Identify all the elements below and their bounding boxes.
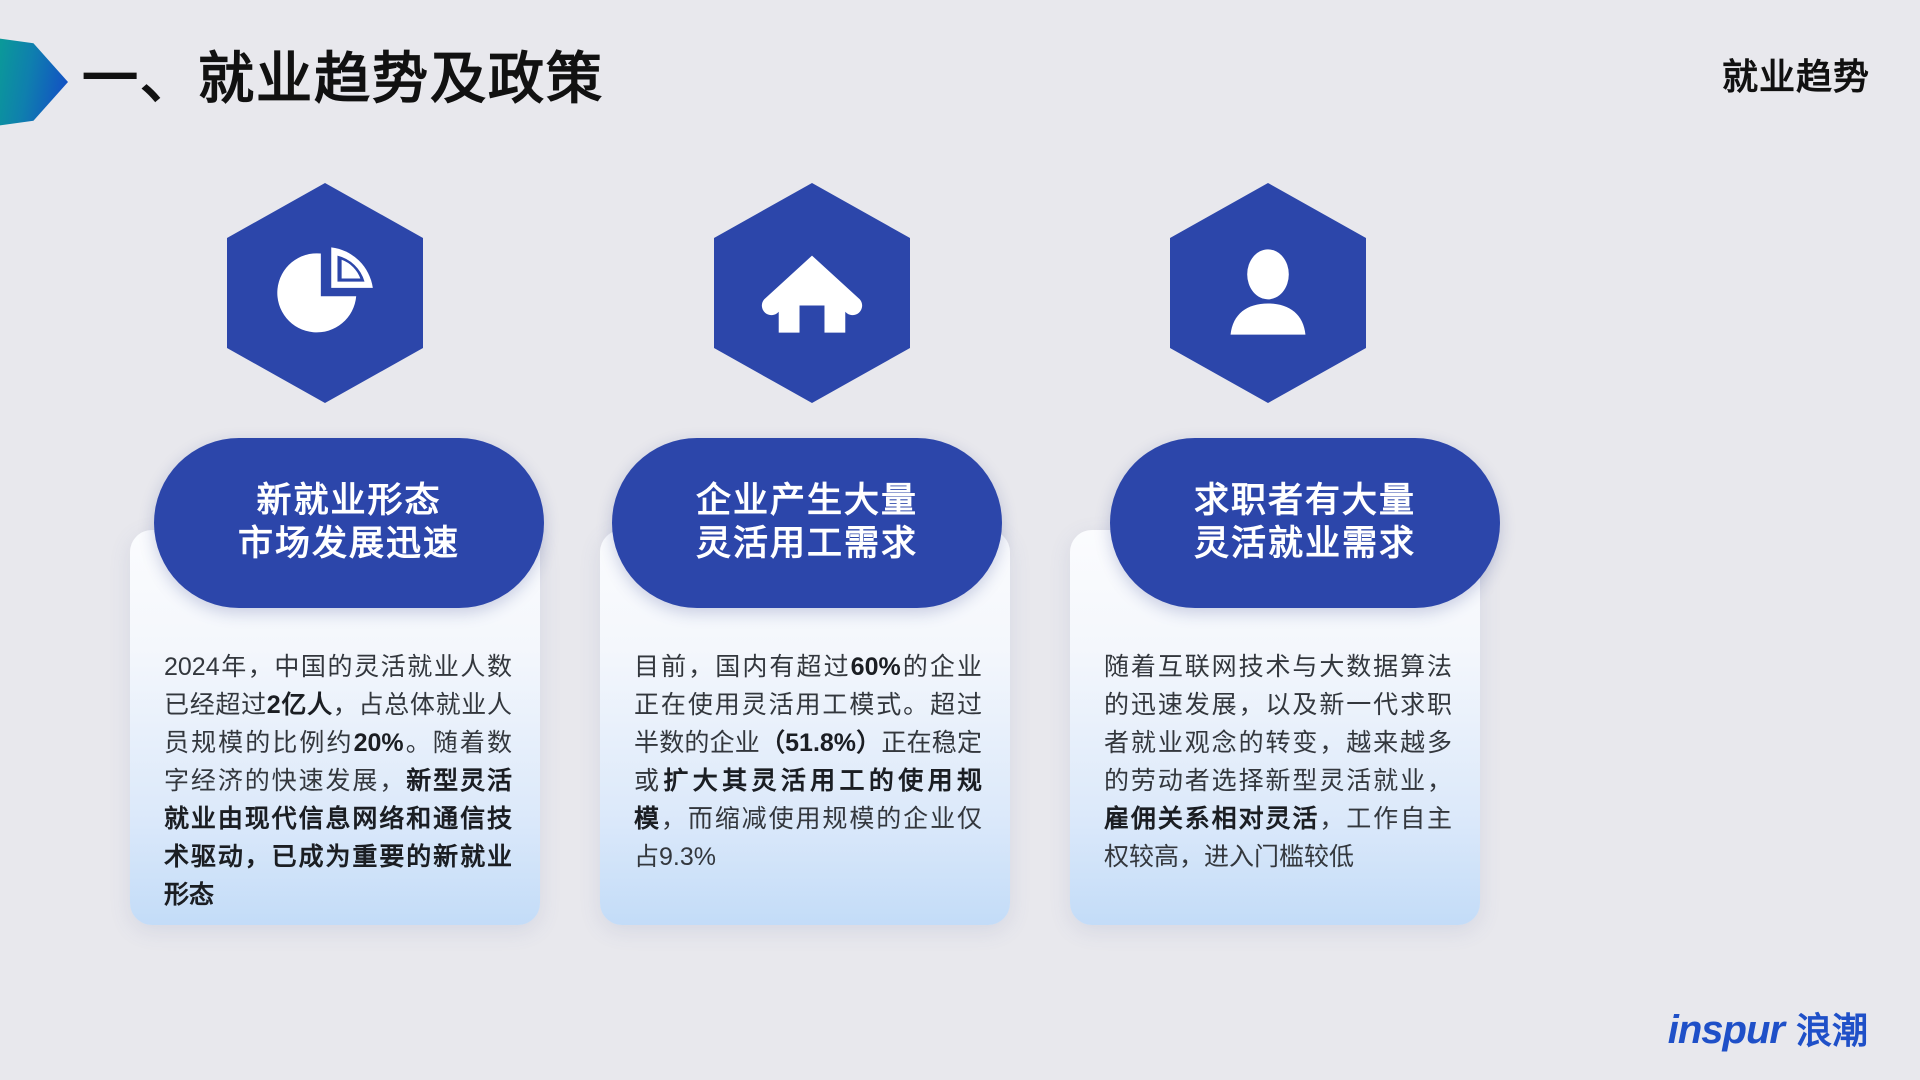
hex-badge-2 (714, 183, 910, 403)
brand-logo: inspur 浪潮 (1668, 1002, 1868, 1054)
card-title-badge: 求职者有大量 灵活就业需求 (1110, 438, 1500, 608)
card-body-text: 目前，国内有超过60%的企业正在使用灵活用工模式。超过半数的企业（51.8%）正… (634, 648, 982, 876)
info-card: 新就业形态 市场发展迅速 2024年，中国的灵活就业人数已经超过2亿人，占总体就… (130, 530, 540, 925)
card-title-line-1: 求职者有大量 (1194, 480, 1416, 523)
brand-logo-latin: inspur (1668, 1008, 1784, 1053)
card-body-text: 2024年，中国的灵活就业人数已经超过2亿人，占总体就业人员规模的比例约20%。… (164, 648, 512, 914)
header-bar: 一、就业趋势及政策 就业趋势 (0, 0, 1920, 150)
title-marker-icon (0, 38, 68, 126)
card-title-badge: 新就业形态 市场发展迅速 (154, 438, 544, 608)
card-body-text: 随着互联网技术与大数据算法的迅速发展，以及新一代求职者就业观念的转变，越来越多的… (1104, 648, 1452, 876)
page-title: 一、就业趋势及政策 (82, 34, 604, 115)
section-label: 就业趋势 (1722, 48, 1870, 100)
info-card: 求职者有大量 灵活就业需求 随着互联网技术与大数据算法的迅速发展，以及新一代求职… (1070, 530, 1480, 925)
card-title-badge: 企业产生大量 灵活用工需求 (612, 438, 1002, 608)
card-title-line-1: 新就业形态 (256, 480, 441, 523)
card-title-line-2: 灵活就业需求 (1194, 523, 1416, 566)
info-card: 企业产生大量 灵活用工需求 目前，国内有超过60%的企业正在使用灵活用工模式。超… (600, 530, 1010, 925)
pie-chart-icon (273, 239, 377, 348)
hex-badge-3 (1170, 183, 1366, 403)
brand-logo-cjk: 浪潮 (1796, 1002, 1868, 1054)
home-icon (760, 239, 864, 348)
card-title-line-1: 企业产生大量 (696, 480, 918, 523)
user-icon (1216, 239, 1320, 348)
card-title-line-2: 市场发展迅速 (238, 523, 460, 566)
card-title-line-2: 灵活用工需求 (696, 523, 918, 566)
hex-badge-1 (227, 183, 423, 403)
